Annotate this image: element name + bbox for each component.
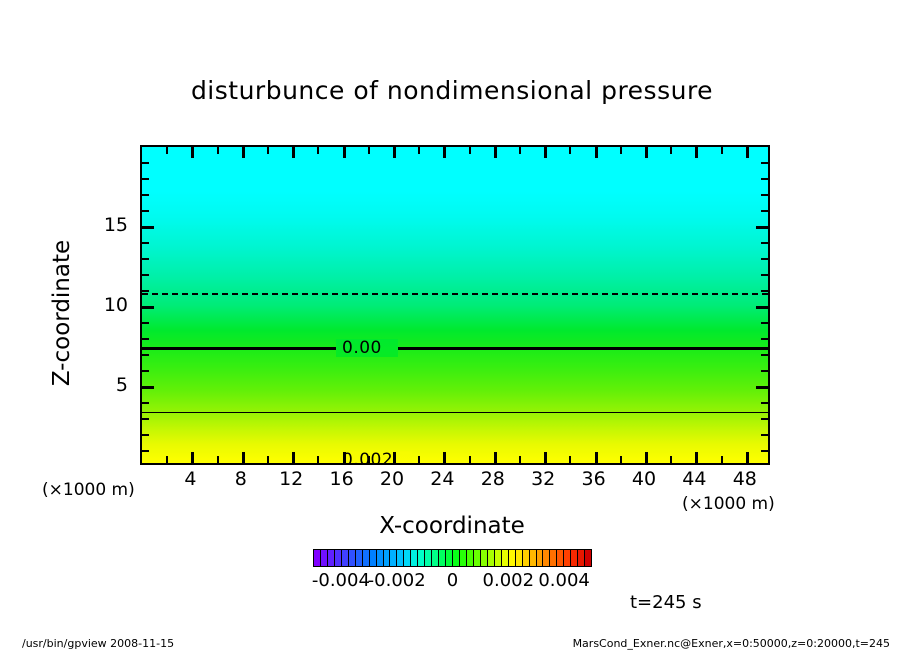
x-tick-top [595, 147, 598, 158]
contour-line-dashed [142, 293, 768, 295]
colorbar-cell [495, 550, 501, 566]
y-tick-left [142, 306, 154, 309]
colorbar-cell [314, 550, 320, 566]
plot-area: 0.00 0.002 [140, 145, 770, 465]
x-tick-top [645, 147, 648, 158]
x-axis-unit-label: (×1000 m) [682, 494, 775, 514]
x-tick-top [217, 147, 219, 154]
colorbar-cell [474, 550, 480, 566]
x-tick-bottom [746, 452, 749, 463]
y-tick-right [761, 290, 768, 292]
y-tick-right [761, 418, 768, 420]
contour-line-zero [142, 347, 768, 350]
colorbar [313, 549, 592, 567]
colorbar-cell [537, 550, 543, 566]
x-tick-top [368, 147, 370, 154]
x-tick-top [343, 147, 346, 158]
x-tick-bottom [670, 456, 672, 463]
y-tick-left [142, 290, 149, 292]
colorbar-cell [523, 550, 529, 566]
colorbar-cell [418, 550, 424, 566]
x-tick-bottom [595, 452, 598, 463]
y-tick-right [761, 370, 768, 372]
x-tick-top [544, 147, 547, 158]
x-tick-label: 16 [330, 468, 354, 490]
x-tick-bottom [393, 452, 396, 463]
x-tick-bottom [695, 452, 698, 463]
x-tick-label: 48 [733, 468, 757, 490]
colorbar-cell [439, 550, 445, 566]
x-tick-top [746, 147, 749, 158]
x-tick-label: 4 [184, 468, 196, 490]
x-tick-top [292, 147, 295, 158]
y-tick-left [142, 434, 149, 436]
x-tick-bottom [721, 456, 723, 463]
x-tick-label: 40 [632, 468, 656, 490]
x-tick-top [695, 147, 698, 158]
footer-command-date: /usr/bin/gpview 2008-11-15 [22, 637, 174, 650]
y-tick-left [142, 386, 154, 389]
colorbar-cell [384, 550, 390, 566]
x-tick-top [191, 147, 194, 158]
colorbar-cell [425, 550, 431, 566]
x-tick-label: 44 [682, 468, 706, 490]
y-tick-left [142, 274, 149, 276]
y-tick-label: 15 [96, 214, 128, 236]
colorbar-cell [453, 550, 459, 566]
y-tick-right [761, 210, 768, 212]
x-tick-bottom [267, 456, 269, 463]
x-tick-top [418, 147, 420, 154]
x-tick-bottom [292, 452, 295, 463]
y-tick-right [761, 434, 768, 436]
colorbar-cell [370, 550, 376, 566]
colorbar-cell [530, 550, 536, 566]
colorbar-cell [578, 550, 584, 566]
y-tick-left [142, 402, 149, 404]
x-tick-bottom [217, 456, 219, 463]
y-tick-right [761, 450, 768, 452]
y-tick-left [142, 162, 149, 164]
x-tick-bottom [620, 456, 622, 463]
colorbar-cell [363, 550, 369, 566]
colorbar-tick-label: -0.002 [368, 570, 426, 591]
y-tick-left [142, 178, 149, 180]
contour-label-zero: 0.00 [338, 338, 386, 358]
x-tick-bottom [494, 452, 497, 463]
colorbar-cell [585, 550, 591, 566]
y-tick-left [142, 450, 149, 452]
y-tick-right [761, 258, 768, 260]
y-tick-right [756, 306, 768, 309]
y-tick-left [142, 418, 149, 420]
colorbar-tick-label: 0.002 [483, 570, 535, 591]
x-tick-bottom [242, 452, 245, 463]
y-tick-label: 10 [96, 294, 128, 316]
x-tick-top [317, 147, 319, 154]
y-tick-right [761, 242, 768, 244]
x-tick-bottom [191, 452, 194, 463]
colorbar-tick-label: 0 [447, 570, 458, 591]
x-tick-top [166, 147, 168, 154]
colorbar-tick-labels: -0.004-0.00200.0020.004 [295, 570, 615, 592]
y-tick-left [142, 322, 149, 324]
y-tick-left [142, 258, 149, 260]
x-tick-bottom [343, 452, 346, 463]
y-tick-left [142, 210, 149, 212]
colorbar-cell [349, 550, 355, 566]
y-tick-label: 5 [96, 374, 128, 396]
y-tick-right [761, 354, 768, 356]
x-tick-top [443, 147, 446, 158]
y-tick-left [142, 338, 149, 340]
x-tick-bottom [368, 456, 370, 463]
colorbar-cell [571, 550, 577, 566]
x-tick-top [620, 147, 622, 154]
x-tick-label: 12 [279, 468, 303, 490]
x-tick-top [267, 147, 269, 154]
colorbar-cell [467, 550, 473, 566]
time-annotation: t=245 s [630, 592, 702, 613]
y-tick-right [761, 322, 768, 324]
x-tick-top [519, 147, 521, 154]
x-tick-bottom [317, 456, 319, 463]
y-tick-right [761, 194, 768, 196]
colorbar-cell [516, 550, 522, 566]
y-tick-left [142, 242, 149, 244]
colorbar-cell [356, 550, 362, 566]
x-tick-label: 32 [531, 468, 555, 490]
colorbar-cell [432, 550, 438, 566]
x-tick-label: 20 [380, 468, 404, 490]
y-tick-right [756, 226, 768, 229]
colorbar-cell [481, 550, 487, 566]
x-tick-bottom [166, 456, 168, 463]
x-tick-top [469, 147, 471, 154]
colorbar-cell [488, 550, 494, 566]
y-tick-right [761, 274, 768, 276]
y-tick-right [761, 338, 768, 340]
page-title: disturbunce of nondimensional pressure [0, 76, 904, 105]
colorbar-cell [557, 550, 563, 566]
colorbar-cell [335, 550, 341, 566]
colorbar-cell [543, 550, 549, 566]
y-tick-right [761, 402, 768, 404]
x-tick-label: 24 [430, 468, 454, 490]
colorbar-cell [460, 550, 466, 566]
colorbar-strip [313, 549, 592, 567]
x-tick-label: 28 [481, 468, 505, 490]
colorbar-tick-label: -0.004 [312, 570, 370, 591]
x-tick-top [721, 147, 723, 154]
x-tick-bottom [519, 456, 521, 463]
colorbar-cell [502, 550, 508, 566]
y-axis-unit-label: (×1000 m) [42, 480, 135, 500]
x-tick-top [670, 147, 672, 154]
x-tick-top [569, 147, 571, 154]
colorbar-cell [411, 550, 417, 566]
x-tick-bottom [469, 456, 471, 463]
colorbar-cell [390, 550, 396, 566]
contour-line-0002 [142, 412, 768, 413]
y-tick-left [142, 194, 149, 196]
x-tick-bottom [418, 456, 420, 463]
y-tick-right [761, 178, 768, 180]
y-tick-left [142, 370, 149, 372]
x-tick-top [242, 147, 245, 158]
y-tick-right [756, 386, 768, 389]
y-tick-left [142, 354, 149, 356]
x-tick-bottom [645, 452, 648, 463]
colorbar-cell [446, 550, 452, 566]
y-tick-left [142, 226, 154, 229]
x-axis-title: X-coordinate [0, 513, 904, 539]
footer-dataset-info: MarsCond_Exner.nc@Exner,x=0:50000,z=0:20… [573, 637, 890, 650]
pressure-field-gradient [142, 147, 768, 463]
x-tick-top [393, 147, 396, 158]
colorbar-cell [397, 550, 403, 566]
colorbar-cell [550, 550, 556, 566]
colorbar-cell [377, 550, 383, 566]
y-tick-right [761, 162, 768, 164]
x-tick-bottom [443, 452, 446, 463]
colorbar-cell [328, 550, 334, 566]
y-axis-title: Z-coordinate [49, 203, 75, 423]
x-tick-label: 36 [582, 468, 606, 490]
colorbar-cell [509, 550, 515, 566]
x-tick-bottom [569, 456, 571, 463]
colorbar-cell [342, 550, 348, 566]
x-tick-top [494, 147, 497, 158]
x-tick-bottom [544, 452, 547, 463]
colorbar-cell [564, 550, 570, 566]
colorbar-cell [321, 550, 327, 566]
x-tick-label: 8 [235, 468, 247, 490]
colorbar-tick-label: 0.004 [538, 570, 590, 591]
colorbar-cell [404, 550, 410, 566]
